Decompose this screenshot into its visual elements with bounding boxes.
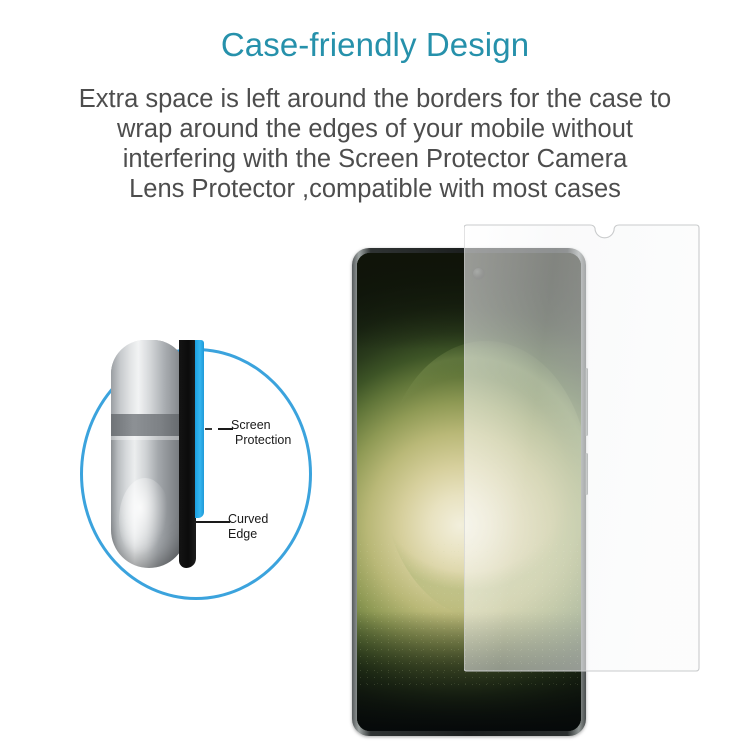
callout-content [69, 338, 325, 612]
phone-black-shell [179, 340, 196, 568]
label-curved-edge: Curved Edge [228, 512, 269, 541]
label-screen-protection-line-2: Protection [231, 433, 291, 448]
protector-film-layer [195, 340, 204, 518]
screen-protection-leader-tick [205, 428, 212, 430]
screen-protector-sheet [464, 216, 702, 680]
phone-edge-highlight [119, 478, 171, 562]
label-curved-edge-line-2: Edge [228, 527, 269, 542]
edge-cross-section-callout [69, 338, 325, 612]
label-screen-protection-line-1: Screen [231, 418, 271, 432]
label-curved-edge-line-1: Curved [228, 512, 268, 526]
edge-cross-section-diagram [111, 340, 215, 568]
phone-antenna-seam [111, 414, 187, 436]
product-feature-image: Case-friendly Design Extra space is left… [0, 0, 750, 750]
phone-antenna-seam-highlight [111, 436, 187, 440]
protector-outline [464, 225, 699, 671]
phone-edge-gloss-band [111, 340, 187, 414]
description-line-4: Lens Protector ,compatible with most cas… [18, 174, 732, 204]
description-line-1: Extra space is left around the borders f… [18, 84, 732, 114]
label-screen-protection: Screen Protection [231, 418, 291, 447]
description-text: Extra space is left around the borders f… [18, 84, 732, 204]
description-line-3: interfering with the Screen Protector Ca… [18, 144, 732, 174]
page-title: Case-friendly Design [0, 26, 750, 64]
curved-edge-leader-line [196, 521, 230, 523]
description-line-2: wrap around the edges of your mobile wit… [18, 114, 732, 144]
